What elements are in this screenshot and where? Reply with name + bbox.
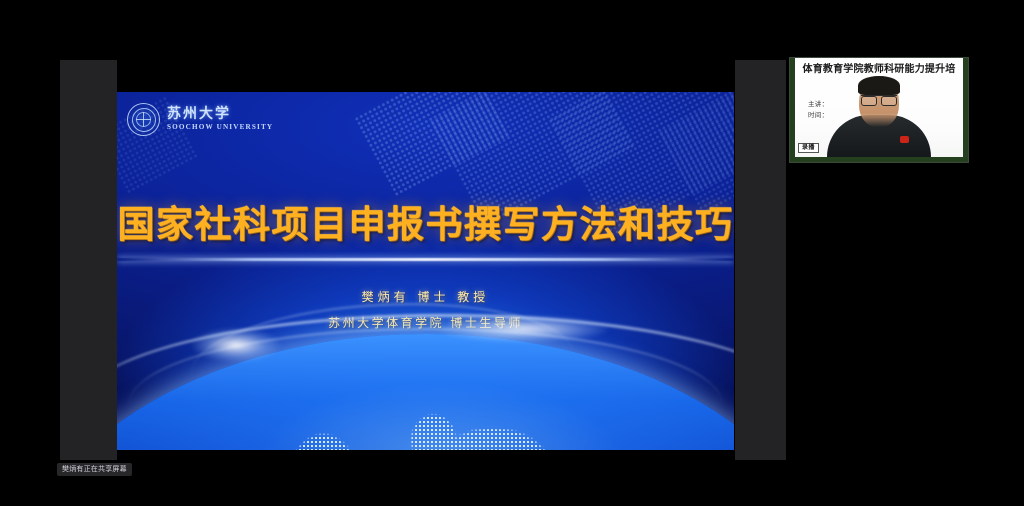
university-logo-text: 苏州大学 SOOCHOW UNIVERSITY [167, 107, 273, 131]
glasses-icon [861, 95, 897, 105]
university-name-cn: 苏州大学 [167, 107, 273, 122]
lapel-pin-icon [900, 136, 909, 143]
video-frame-edge-right [963, 58, 968, 162]
university-name-en: SOOCHOW UNIVERSITY [167, 124, 273, 132]
recording-watermark: 录播 [798, 143, 819, 153]
world-map-dots [230, 368, 654, 450]
light-flare [191, 328, 281, 362]
credit-line-2: 苏州大学体育学院 博士生导师 [117, 314, 734, 331]
video-time-label: 时间： [808, 110, 828, 121]
university-logo: 苏州大学 SOOCHOW UNIVERSITY [127, 103, 273, 136]
video-speaker-label: 主讲： [808, 99, 828, 110]
meeting-stage: 苏州大学 SOOCHOW UNIVERSITY 国家社科项目申报书撰写方法和技巧… [0, 0, 1024, 506]
share-letterbox-right [735, 60, 786, 460]
speaker-video-tile[interactable]: 体育教育学院教师科研能力提升培训 主讲： 时间： 录播 [789, 57, 969, 163]
credit-line-1: 樊炳有 博士 教授 [117, 288, 734, 305]
presenter-figure [827, 83, 931, 157]
video-frame-edge-left [790, 58, 795, 162]
university-crest-icon [127, 103, 160, 136]
shared-screen-slide[interactable]: 苏州大学 SOOCHOW UNIVERSITY 国家社科项目申报书撰写方法和技巧… [117, 92, 734, 450]
slide-divider [117, 258, 734, 261]
slide-title: 国家社科项目申报书撰写方法和技巧 [117, 194, 734, 248]
video-frame-edge-bottom [790, 157, 968, 162]
light-flare [438, 316, 608, 342]
dot-pattern-decoration [353, 92, 510, 197]
presenter-hair [858, 76, 900, 95]
video-slide-meta: 主讲： 时间： [808, 99, 828, 122]
share-letterbox-left [60, 60, 117, 460]
slide-credits: 樊炳有 博士 教授 苏州大学体育学院 博士生导师 [117, 288, 734, 331]
screen-share-status: 樊炳有正在共享屏幕 [57, 463, 132, 476]
